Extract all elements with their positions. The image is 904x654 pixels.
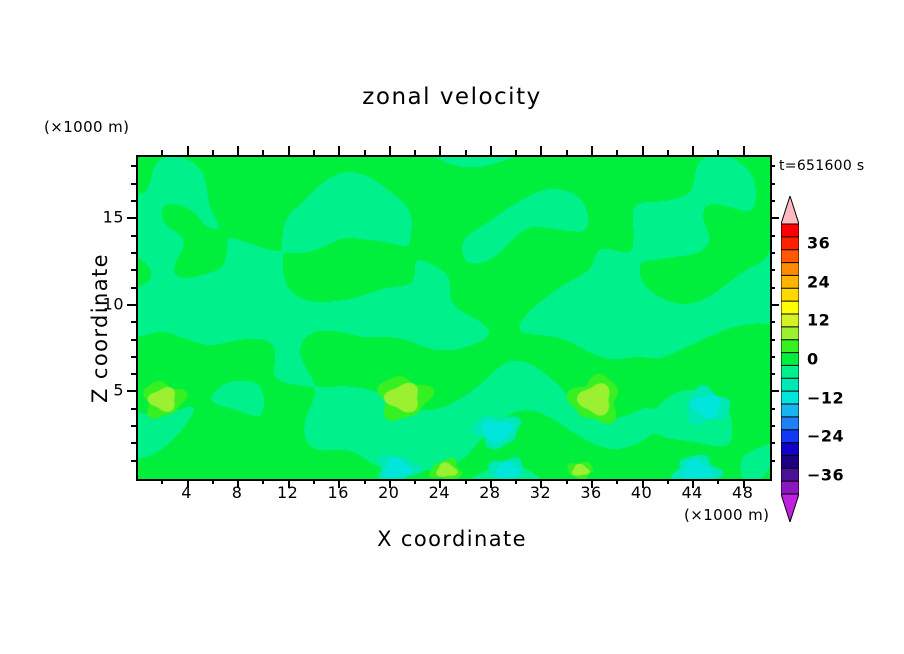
colorbar-tick-label: 36 — [807, 234, 830, 253]
y-tick-right — [770, 269, 775, 271]
x-tick — [364, 479, 366, 484]
y-tick — [131, 200, 136, 202]
x-tick-top — [364, 150, 366, 155]
y-tick-right — [770, 442, 775, 444]
x-tick-top — [667, 150, 669, 155]
x-tick-top — [540, 146, 542, 155]
x-tick-top — [743, 146, 745, 155]
x-tick-top — [591, 146, 593, 155]
x-tick-top — [642, 146, 644, 155]
y-tick-right — [770, 390, 779, 392]
x-tick-top — [338, 146, 340, 155]
colorbar-tick-label: 24 — [807, 272, 830, 291]
y-tick-right — [770, 183, 775, 185]
colorbar — [781, 196, 799, 522]
y-tick-right — [770, 373, 775, 375]
y-tick — [131, 269, 136, 271]
y-tick — [127, 217, 136, 219]
y-axis-unit-label: (×1000 m) — [44, 118, 129, 136]
y-axis-title: Z coordinate — [88, 208, 112, 448]
x-tick — [616, 479, 618, 484]
colorbar-tick-label: −36 — [807, 465, 844, 484]
y-tick-right — [770, 217, 779, 219]
x-tick-top — [515, 150, 517, 155]
x-tick — [262, 479, 264, 484]
y-tick — [131, 339, 136, 341]
x-tick-label: 36 — [580, 483, 601, 502]
y-tick-right — [770, 235, 775, 237]
y-tick-right — [770, 356, 775, 358]
y-tick-right — [770, 321, 775, 323]
x-tick-label: 12 — [277, 483, 298, 502]
y-tick — [131, 287, 136, 289]
x-tick-label: 4 — [181, 483, 192, 502]
x-tick-top — [262, 150, 264, 155]
colorbar-canvas — [781, 196, 799, 522]
y-tick — [131, 408, 136, 410]
x-tick-top — [161, 150, 163, 155]
y-tick — [131, 183, 136, 185]
y-tick-right — [770, 304, 779, 306]
x-axis-title: X coordinate — [136, 527, 768, 551]
y-tick-right — [770, 165, 775, 167]
colorbar-tick-label: 12 — [807, 311, 830, 330]
y-tick — [131, 235, 136, 237]
x-tick-label: 24 — [429, 483, 450, 502]
x-tick-top — [490, 146, 492, 155]
x-tick-top — [237, 146, 239, 155]
page-title: zonal velocity — [0, 84, 904, 110]
x-tick-top — [566, 150, 568, 155]
y-tick-right — [770, 200, 775, 202]
y-tick-right — [770, 339, 775, 341]
x-tick — [161, 479, 163, 484]
x-tick — [515, 479, 517, 484]
x-tick-label: 48 — [732, 483, 753, 502]
x-tick — [465, 479, 467, 484]
x-tick-top — [313, 150, 315, 155]
x-tick-label: 16 — [328, 483, 349, 502]
y-tick — [127, 304, 136, 306]
x-tick-top — [187, 146, 189, 155]
y-tick — [131, 373, 136, 375]
x-tick-label: 8 — [232, 483, 243, 502]
y-tick — [131, 252, 136, 254]
x-tick — [566, 479, 568, 484]
y-tick-right — [770, 252, 775, 254]
y-tick — [131, 425, 136, 427]
y-tick — [131, 460, 136, 462]
x-tick-top — [288, 146, 290, 155]
x-tick-label: 20 — [378, 483, 399, 502]
contour-field-canvas — [138, 157, 770, 479]
x-tick — [717, 479, 719, 484]
x-tick — [212, 479, 214, 484]
x-tick — [667, 479, 669, 484]
plot-area — [136, 155, 772, 481]
x-tick-label: 28 — [479, 483, 500, 502]
x-tick-top — [692, 146, 694, 155]
x-tick-top — [414, 150, 416, 155]
colorbar-tick-label: 0 — [807, 350, 819, 369]
x-tick — [313, 479, 315, 484]
y-tick-right — [770, 460, 775, 462]
timestamp-label: t=651600 s — [779, 158, 864, 174]
x-tick-top — [439, 146, 441, 155]
x-tick-label: 32 — [530, 483, 551, 502]
y-tick — [131, 356, 136, 358]
x-tick-top — [212, 150, 214, 155]
x-tick-top — [465, 150, 467, 155]
colorbar-tick-label: −24 — [807, 427, 844, 446]
x-tick-label: 44 — [681, 483, 702, 502]
y-tick — [131, 442, 136, 444]
x-tick — [414, 479, 416, 484]
y-tick — [131, 165, 136, 167]
y-tick-right — [770, 408, 775, 410]
x-tick-label: 40 — [631, 483, 652, 502]
x-tick-top — [389, 146, 391, 155]
colorbar-tick-label: −12 — [807, 388, 844, 407]
y-tick — [127, 390, 136, 392]
y-tick-right — [770, 425, 775, 427]
x-tick-top — [616, 150, 618, 155]
y-tick-right — [770, 287, 775, 289]
contour-plot-figure: zonal velocity (×1000 m) t=651600 s 4812… — [0, 0, 904, 654]
x-axis-unit-label: (×1000 m) — [684, 506, 769, 524]
x-tick-top — [717, 150, 719, 155]
y-tick — [131, 321, 136, 323]
